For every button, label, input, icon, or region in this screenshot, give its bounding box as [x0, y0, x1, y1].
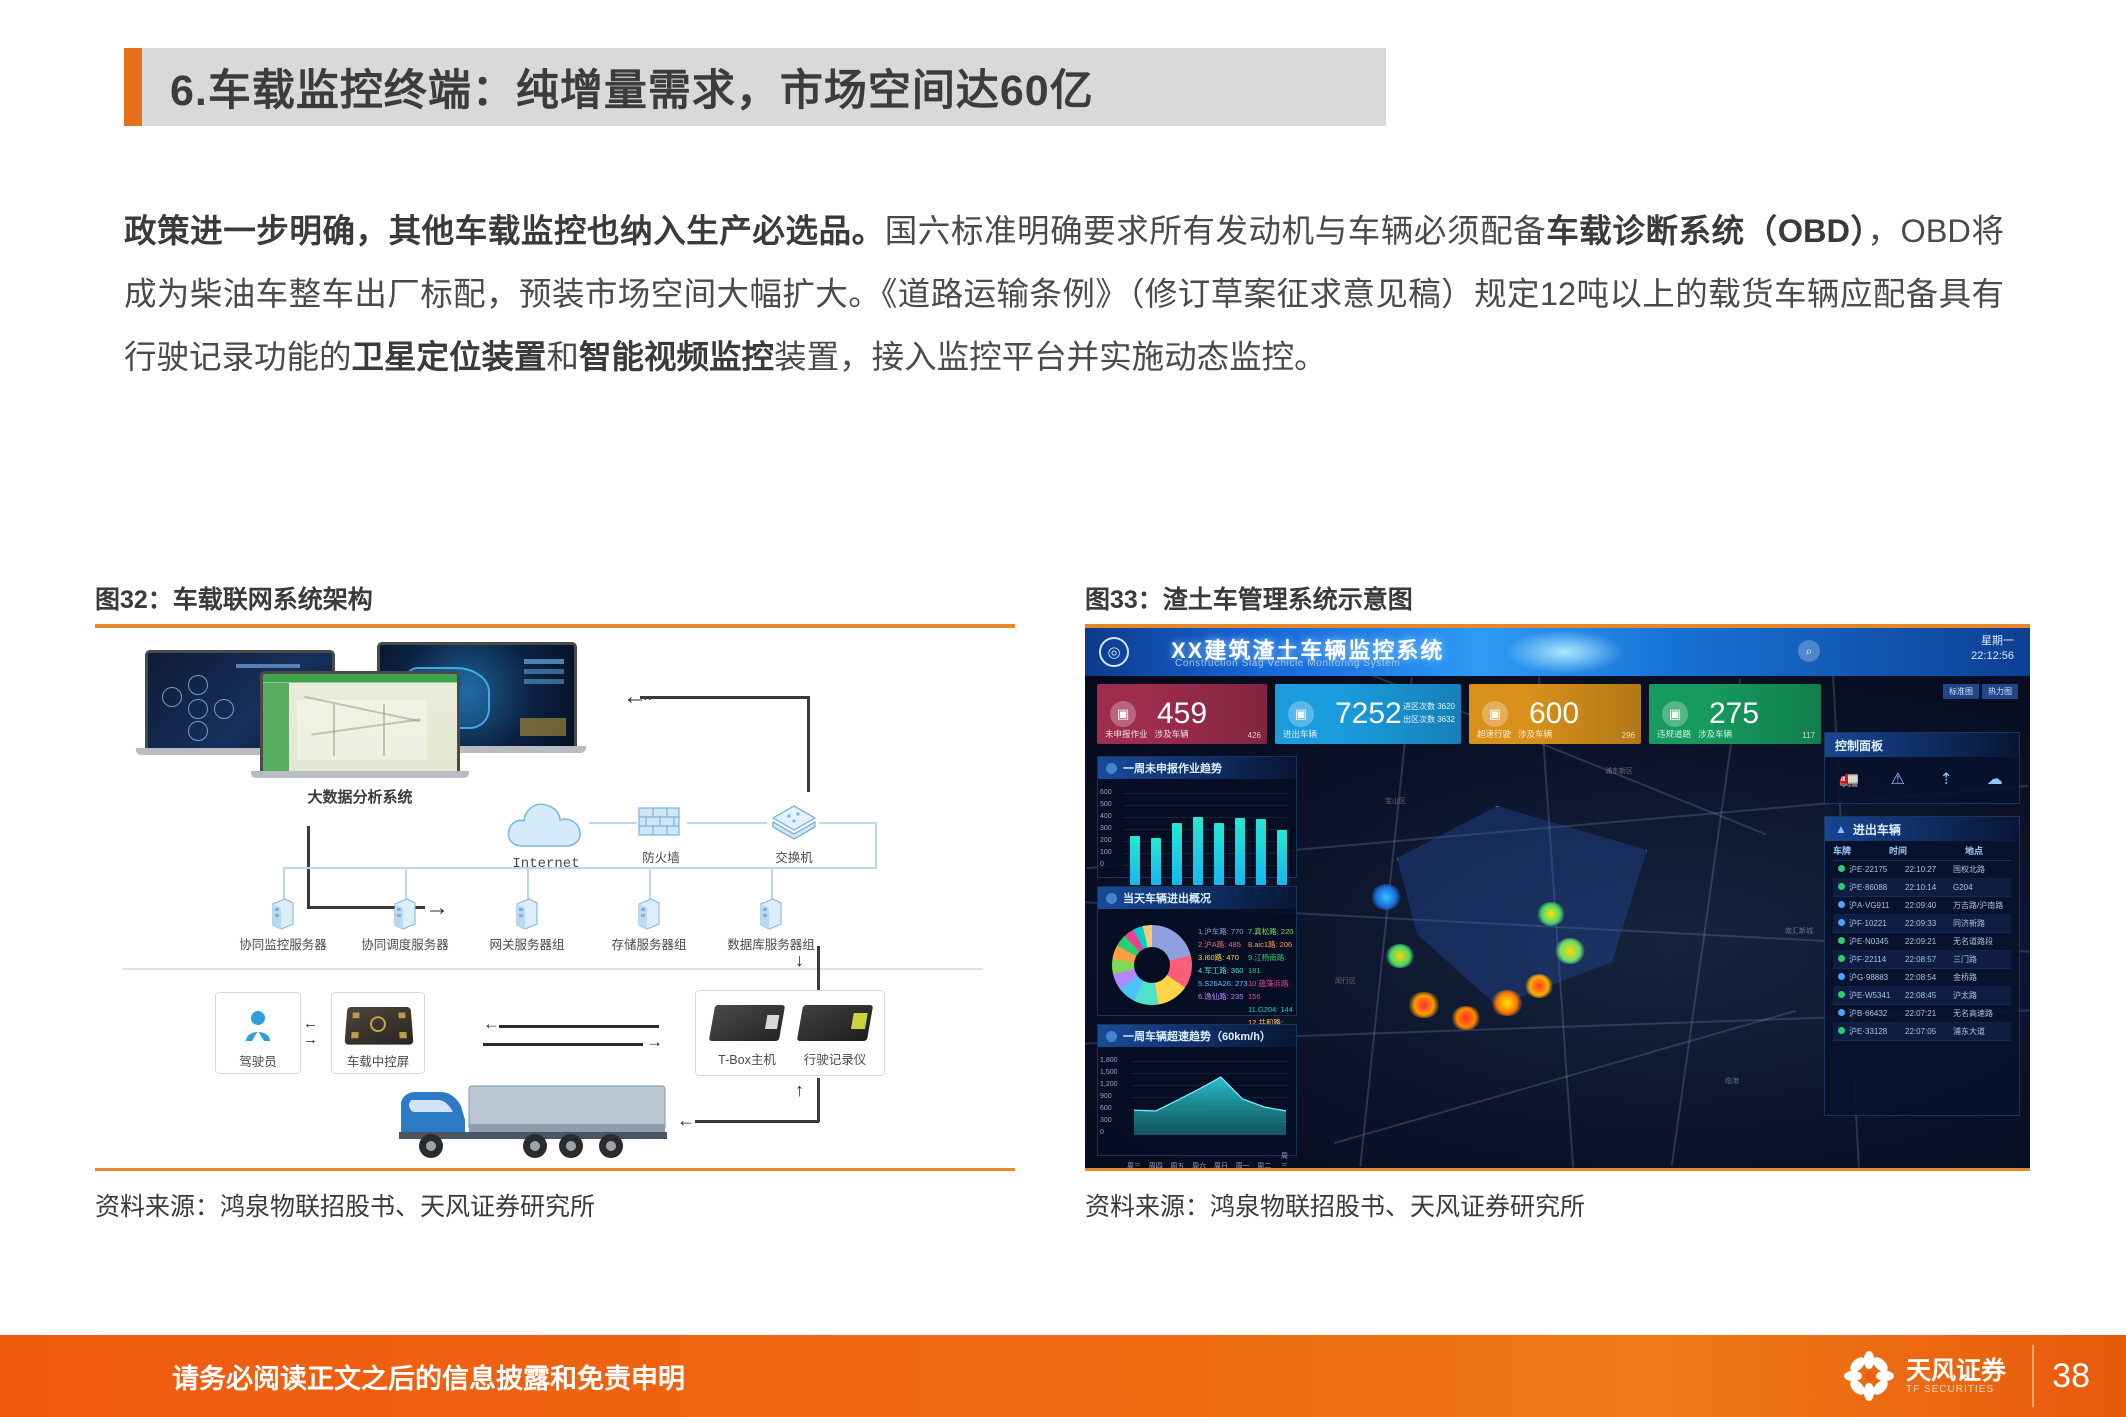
truck-illustration: [385, 1080, 675, 1164]
server-stem-1: [405, 867, 407, 899]
header-glow: [1505, 630, 1625, 674]
net-link-1: [589, 822, 637, 824]
panel-donut-chart: 当天车辆进出概况 1.沪车路: 7702.沪A路: 4853.I60路: 470…: [1097, 886, 1297, 1016]
label-firewall: 防火墙: [642, 847, 680, 866]
paragraph-segment-5: 和: [547, 339, 580, 375]
panel-bar-dot-icon: [1106, 763, 1117, 774]
control-panel-icons[interactable]: 🚛⚠⇡☁: [1825, 757, 2019, 801]
server-icon-3: [635, 896, 663, 930]
bar-gridline-2: [1124, 817, 1288, 818]
bar-2: [1172, 823, 1182, 885]
server-stem-2: [527, 867, 529, 899]
row-status-dot: [1833, 865, 1849, 874]
donut-legend-item-5: 6.逸仙路: 235: [1198, 990, 1248, 1003]
kpi-value-1: 7252: [1327, 697, 1402, 731]
area-xtick-2: 周五: [1170, 1161, 1184, 1168]
label-console: 车载中控屏: [347, 1051, 410, 1070]
paragraph-segment-6: 智能视频监控: [579, 339, 774, 375]
row-place: 无名高速路: [1953, 1008, 2011, 1019]
tbox-dvr-box: T-Box主机 行驶记录仪: [695, 990, 885, 1076]
row-plate: 沪E·W5341: [1849, 990, 1905, 1001]
panel-bar-chart: 一周未申报作业趋势 6005004003002001000周三周四周五周六周日周…: [1097, 756, 1297, 878]
figure-32-source: 资料来源：鸿泉物联招股书、天风证券研究所: [95, 1171, 1015, 1223]
row-place: 无名道路段: [1953, 936, 2011, 947]
arrow-right-icon: →: [425, 894, 449, 922]
label-server-0: 协同监控服务器: [239, 934, 327, 953]
clock-label: 星期一: [1971, 634, 2014, 649]
row-plate: 沪F·10221: [1849, 918, 1905, 929]
server-icon-2: [513, 896, 541, 930]
row-time: 22:08:57: [1905, 955, 1953, 964]
kpi-extra-3: 117: [1802, 731, 1815, 740]
paragraph-segment-1: 国六标准明确要求所有发动机与车辆必须配备: [885, 213, 1547, 249]
table-row[interactable]: 沪A·VG91122:09:40万吉路/沪南路: [1833, 897, 2011, 915]
row-plate: 沪G·98883: [1849, 972, 1905, 983]
area-xtick-1: 周四: [1149, 1161, 1163, 1168]
kpi-card-1[interactable]: ▣7252进出车辆进区次数 3620出区次数 3632: [1275, 684, 1461, 744]
label-server-1: 协同调度服务器: [361, 934, 449, 953]
row-time: 22:09:21: [1905, 937, 1953, 946]
kpi-card-2[interactable]: ▣600超速行驶 涉及车辆296: [1469, 684, 1641, 744]
brand-name: 天风证券: [1906, 1358, 2006, 1384]
server-stem-4: [771, 867, 773, 899]
area-series: [1098, 1047, 1298, 1157]
label-driver: 驾驶员: [239, 1051, 277, 1070]
row-time: 22:10:14: [1905, 883, 1953, 892]
row-plate: 沪E·33128: [1849, 1026, 1905, 1037]
server-icon-0: [269, 896, 297, 930]
server-icon-4: [757, 896, 785, 930]
arrow-dots-top: ··: [643, 690, 652, 706]
internet-cloud-icon: [503, 796, 589, 852]
title-band: 6.车载监控终端：纯增量需求，市场空间达60亿: [142, 48, 1386, 126]
row-status-dot: [1833, 919, 1849, 928]
row-place: 万吉路/沪南路: [1953, 900, 2011, 911]
flow-line-up-tbox: [817, 1078, 820, 1122]
switch-icon: [767, 800, 821, 844]
donut-legend-item-2: 3.I60路: 470: [1198, 951, 1248, 964]
donut-legend-item-0: 1.沪车路: 770: [1198, 925, 1248, 938]
table-row[interactable]: 沪E·W534122:08:45沪太路: [1833, 987, 2011, 1005]
row-time: 22:10:27: [1905, 865, 1953, 874]
kpi-value-3: 275: [1701, 697, 1759, 731]
table-row[interactable]: 沪F·1022122:09:33同济新路: [1833, 915, 2011, 933]
donut-chart: 1.沪车路: 7702.沪A路: 4853.I60路: 4704.军工路: 36…: [1098, 909, 1296, 1037]
kpi-label-2: 超速行驶 涉及车辆: [1477, 728, 1552, 740]
row-plate: 沪F·22114: [1849, 954, 1905, 965]
driver-icon: [243, 1009, 273, 1048]
kpi-card-3[interactable]: ▣275违规道路 涉及车辆117: [1649, 684, 1821, 744]
row-time: 22:07:21: [1905, 1009, 1953, 1018]
label-tbox: T-Box主机: [718, 1049, 776, 1068]
brand-name-en: TF SECURITIES: [1906, 1384, 2006, 1395]
row-place: 同济新路: [1953, 918, 2011, 929]
arrow-up-icon: ↑: [795, 1080, 804, 1101]
row-status-dot: [1833, 955, 1849, 964]
table-column-2: 地点: [1937, 844, 2011, 857]
net-link-2: [687, 822, 767, 824]
footer-divider: [2032, 1345, 2034, 1407]
bar-chart: 6005004003002001000周三周四周五周六周日周一周二周三: [1098, 779, 1296, 899]
laptop-screen-map: [260, 671, 460, 771]
row-place: 金桥路: [1953, 972, 2011, 983]
figure-33-source: 资料来源：鸿泉物联招股书、天风证券研究所: [1085, 1171, 2030, 1223]
row-place: 国权北路: [1953, 864, 2011, 875]
label-internet: Internet: [512, 856, 579, 872]
donut-legend-item-9: 10.蕴藻浜路: 156: [1248, 977, 1296, 1003]
driver-box: 驾驶员: [215, 992, 301, 1074]
panel-area-chart: 一周车辆超速趋势（60km/h） 1,8001,5001,20090060030…: [1097, 1024, 1297, 1156]
row-plate: 沪E·22175: [1849, 864, 1905, 875]
kpi-extra-2: 296: [1622, 731, 1635, 740]
figure-32: 图32：车载联网系统架构: [95, 580, 1015, 1223]
vehicle-table-icon: ▲: [1835, 822, 1847, 836]
clock-time: 22:12:56: [1971, 649, 2014, 664]
area-chart: 1,8001,5001,2009006003000周三周四周五周六周日周一周二周…: [1098, 1047, 1296, 1168]
kpi-label-0: 未申报作业 涉及车辆: [1105, 728, 1189, 740]
paragraph-segment-0: 政策进一步明确，其他车载监控也纳入生产必选品。: [124, 213, 885, 249]
row-time: 22:09:40: [1905, 901, 1953, 910]
area-xtick-0: 周三: [1127, 1161, 1141, 1168]
console-screen-icon: [344, 1007, 413, 1045]
bar-1: [1151, 838, 1161, 885]
vehicle-table-label: 进出车辆: [1853, 821, 1901, 838]
label-server-2: 网关服务器组: [489, 934, 564, 953]
vehicle-table-panel: ▲ 进出车辆 车牌时间地点 沪E·2217522:10:27国权北路沪E·860…: [1824, 816, 2020, 1116]
donut-legend-item-8: 9.江杨南路: 181: [1248, 951, 1296, 977]
row-status-dot: [1833, 991, 1849, 1000]
console-box: 车载中控屏: [331, 992, 425, 1074]
donut-legend-col-1: 1.沪车路: 7702.沪A路: 4853.I60路: 4704.军工路: 36…: [1198, 925, 1248, 1003]
donut-legend-item-4: 5.S26A26: 273: [1198, 977, 1248, 990]
search-icon[interactable]: ⌕: [1798, 640, 1820, 662]
table-row[interactable]: 沪B·6643222:07:21无名高速路: [1833, 1005, 2011, 1023]
table-column-0: 车牌: [1833, 844, 1889, 857]
vehicle-table-title: ▲ 进出车辆: [1825, 817, 2019, 841]
bus-arrows: ← →: [483, 1020, 663, 1050]
label-big-data-system: 大数据分析系统: [260, 786, 460, 807]
donut-legend-item-10: 11.G204: 144: [1248, 1003, 1296, 1016]
alarm-icon[interactable]: ⚠: [1874, 769, 1923, 789]
row-place: 浦东大道: [1953, 1026, 2011, 1037]
arrow-pair-driver: ←→: [303, 1016, 318, 1048]
dashboard-header: ◎ XX建筑渣土车辆监控系统 Construction Slag Vehicle…: [1085, 628, 2030, 676]
figure-33: 图33：渣土车管理系统示意图 宝山区 浦东新区 闵行区 南汇新城 临港: [1085, 580, 2030, 1223]
bar-3: [1193, 817, 1203, 885]
server-stem-0: [283, 867, 285, 899]
kpi-card-0[interactable]: ▣459未申报作业 涉及车辆426: [1097, 684, 1267, 744]
flow-line-top: [640, 696, 810, 699]
flow-line-down-tbox: [817, 946, 820, 990]
flow-line-truck-tbox: [695, 1120, 819, 1123]
brand-mark-icon: [1842, 1349, 1896, 1403]
laptop-monitor-center: [260, 671, 460, 778]
net-link-3: [819, 822, 877, 824]
bar-7: [1277, 830, 1287, 885]
dashboard-clock: 星期一 22:12:56: [1971, 634, 2014, 664]
figure-32-title: 图32：车载联网系统架构: [95, 580, 1015, 624]
row-time: 22:07:05: [1905, 1027, 1953, 1036]
bar-5: [1235, 818, 1245, 885]
bar-gridline-0: [1124, 793, 1288, 794]
bar-ytick-6: 0: [1100, 861, 1104, 868]
page-number: 38: [2052, 1357, 2090, 1396]
bar-ytick-1: 500: [1100, 801, 1112, 808]
bar-6: [1256, 819, 1266, 885]
bar-ytick-3: 300: [1100, 825, 1112, 832]
page-footer: 请务必阅读正文之后的信息披露和免责申明 天风证券 TF SECURITIES: [0, 1335, 2126, 1417]
area-xtick-7: 周三: [1281, 1151, 1291, 1168]
label-server-3: 存储服务器组: [611, 934, 686, 953]
map-mode-buttons[interactable]: 标准图热力图: [1943, 684, 2018, 699]
dashboard-logo-icon: ◎: [1099, 637, 1129, 667]
panel-area-title: 一周车辆超速趋势（60km/h）: [1123, 1028, 1271, 1044]
title-accent-bar: [124, 48, 142, 126]
footer-disclaimer: 请务必阅读正文之后的信息披露和免责申明: [172, 1357, 685, 1396]
vehicle-icon[interactable]: 🚛: [1825, 769, 1874, 789]
control-panel-title: 控制面板: [1825, 733, 2019, 757]
body-paragraph: 政策进一步明确，其他车载监控也纳入生产必选品。国六标准明确要求所有发动机与车辆必…: [124, 200, 2004, 389]
label-dvr: 行驶记录仪: [804, 1049, 867, 1068]
dashboard-screenshot: 宝山区 浦东新区 闵行区 南汇新城 临港 ◎ XX建筑渣土车辆监控系统 Cons…: [1085, 628, 2030, 1168]
row-status-dot: [1833, 937, 1849, 946]
row-plate: 沪A·VG911: [1849, 900, 1905, 911]
bar-ytick-2: 400: [1100, 813, 1112, 820]
kpi-extra-0: 426: [1248, 731, 1261, 740]
donut-ring: [1112, 925, 1192, 1005]
area-xtick-4: 周日: [1214, 1161, 1228, 1168]
figure-33-body: 宝山区 浦东新区 闵行区 南汇新城 临港 ◎ XX建筑渣土车辆监控系统 Cons…: [1085, 628, 2030, 1223]
table-row[interactable]: 沪F·2211422:08:57三门路: [1833, 951, 2011, 969]
paragraph-segment-7: 装置，接入监控平台并实施动态监控。: [774, 339, 1327, 375]
server-stem-3: [649, 867, 651, 899]
flow-line-top-down: [807, 696, 810, 792]
net-bus: [283, 867, 877, 869]
row-plate: 沪B·66432: [1849, 1008, 1905, 1019]
dashboard-subtitle: Construction Slag Vehicle Monitoring Sys…: [1175, 658, 1400, 669]
row-status-dot: [1833, 901, 1849, 910]
page-title-bar: 6.车载监控终端：纯增量需求，市场空间达60亿: [124, 48, 1386, 126]
kpi-value-0: 459: [1149, 697, 1207, 731]
map-mode-button-1[interactable]: 热力图: [1982, 684, 2018, 699]
paragraph-segment-4: 卫星定位装置: [352, 339, 547, 375]
kpi-rows-1: 进区次数 3620出区次数 3632: [1403, 700, 1455, 726]
row-time: 22:09:33: [1905, 919, 1953, 928]
map-mode-button-0[interactable]: 标准图: [1943, 684, 1979, 699]
bar-ytick-4: 200: [1100, 837, 1112, 844]
row-time: 22:08:45: [1905, 991, 1953, 1000]
area-xtick-6: 周二: [1257, 1161, 1271, 1168]
label-switch: 交换机: [775, 847, 813, 866]
panel-area-dot-icon: [1106, 1031, 1117, 1042]
donut-legend-item-6: 7.真松路: 220: [1248, 925, 1296, 938]
dvr-device-icon: [797, 1005, 873, 1041]
kpi-label-1: 进出车辆: [1283, 728, 1317, 740]
vehicle-table-body[interactable]: 沪E·2217522:10:27国权北路沪E·8608822:10:14G204…: [1833, 861, 2011, 1041]
section-divider: [123, 968, 983, 970]
arrow-left-truck-icon: ←: [677, 1110, 695, 1131]
brand-logo: 天风证券 TF SECURITIES: [1842, 1349, 2006, 1403]
row-place: 沪太路: [1953, 990, 2011, 1001]
row-plate: 沪E·86088: [1849, 882, 1905, 893]
table-row[interactable]: 沪E·N034522:09:21无名道路段: [1833, 933, 2011, 951]
row-status-dot: [1833, 883, 1849, 892]
panel-donut-dot-icon: [1106, 893, 1117, 904]
tbox-device-icon: [709, 1005, 785, 1041]
cloud-icon[interactable]: ☁: [1971, 769, 2020, 789]
row-status-dot: [1833, 1009, 1849, 1018]
paragraph-segment-2: 车载诊断系统（OBD）: [1546, 213, 1867, 249]
donut-legend-item-3: 4.军工路: 360: [1198, 964, 1248, 977]
page-title: 6.车载监控终端：纯增量需求，市场空间达60亿: [170, 56, 1094, 118]
bar-4: [1214, 823, 1224, 885]
row-status-dot: [1833, 1027, 1849, 1036]
table-row[interactable]: 沪E·8608822:10:14G204: [1833, 879, 2011, 897]
donut-legend-item-1: 2.沪A路: 485: [1198, 938, 1248, 951]
control-panel: 控制面板 🚛⚠⇡☁: [1824, 732, 2020, 804]
kpi-label-3: 违规道路 涉及车辆: [1657, 728, 1732, 740]
donut-legend-item-7: 8.aic1路: 206: [1248, 938, 1296, 951]
table-row[interactable]: 沪G·9888322:08:54金桥路: [1833, 969, 2011, 987]
area-xtick-3: 周六: [1192, 1161, 1206, 1168]
area-xtick-5: 周一: [1236, 1161, 1250, 1168]
table-row[interactable]: 沪E·3312822:07:05浦东大道: [1833, 1023, 2011, 1041]
server-icon-1: [391, 896, 419, 930]
net-link-4: [875, 822, 877, 868]
panel-area-header: 一周车辆超速趋势（60km/h）: [1098, 1025, 1296, 1047]
row-time: 22:08:54: [1905, 973, 1953, 982]
panel-bar-title: 一周未申报作业趋势: [1123, 760, 1222, 776]
panel-bar-header: 一周未申报作业趋势: [1098, 757, 1296, 779]
bar-gridline-1: [1124, 805, 1288, 806]
architecture-diagram: 大数据分析系统 ← ·· → Internet: [95, 628, 1015, 1168]
tower-icon[interactable]: ⇡: [1922, 769, 1971, 789]
arrow-down-icon: ↓: [795, 950, 804, 971]
row-plate: 沪E·N0345: [1849, 936, 1905, 947]
vehicle-table-header: 车牌时间地点: [1833, 841, 2011, 861]
panel-donut-header: 当天车辆进出概况: [1098, 887, 1296, 909]
row-status-dot: [1833, 973, 1849, 982]
firewall-icon: [635, 800, 687, 844]
table-column-1: 时间: [1889, 844, 1937, 857]
row-place: 三门路: [1953, 954, 2011, 965]
bar-0: [1130, 836, 1140, 885]
bar-ytick-0: 600: [1100, 789, 1112, 796]
figure-32-body: 大数据分析系统 ← ·· → Internet: [95, 628, 1015, 1223]
figure-33-title: 图33：渣土车管理系统示意图: [1085, 580, 2030, 624]
row-place: G204: [1953, 883, 2011, 892]
table-row[interactable]: 沪E·2217522:10:27国权北路: [1833, 861, 2011, 879]
kpi-value-2: 600: [1521, 697, 1579, 731]
panel-donut-title: 当天车辆进出概况: [1123, 890, 1211, 906]
bar-ytick-5: 100: [1100, 849, 1112, 856]
